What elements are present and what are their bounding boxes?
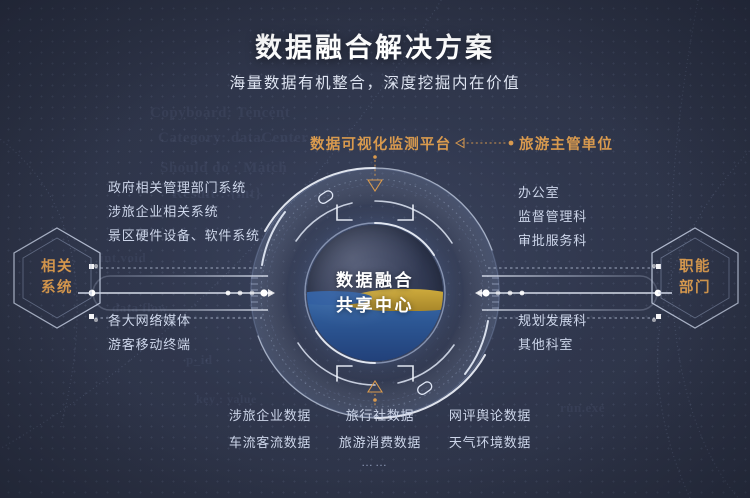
- bottom-data-connector: [368, 381, 382, 408]
- right-list-item: 审批服务科: [518, 229, 587, 253]
- watermark-text: Should do : Match: [160, 160, 287, 177]
- top-label-drop-lines: [368, 155, 382, 191]
- watermark-text: int void: [100, 250, 146, 266]
- left-list-item: 游客移动终端: [108, 333, 191, 357]
- hexagon-left-line2: 系统: [41, 278, 73, 299]
- hexagon-related-systems[interactable]: 相关 系统: [14, 228, 100, 328]
- bottom-data-item: 涉旅企业数据: [215, 405, 325, 424]
- bottom-data-item: 天气环境数据: [435, 432, 545, 451]
- left-list-item: 政府相关管理部门系统: [108, 176, 260, 200]
- right-column-top-list: 办公室监督管理科审批服务科: [518, 181, 587, 253]
- infographic-canvas: Copyboard: TencentCategory: dataCenterSh…: [0, 0, 750, 498]
- page-subtitle: 海量数据有机整合，深度挖掘内在价值: [0, 71, 750, 93]
- hexagon-right-line1: 职能: [679, 257, 711, 278]
- core-label-line2: 共享中心: [336, 293, 414, 318]
- label-visualization-platform[interactable]: 数据可视化监测平台: [310, 133, 451, 154]
- label-tourism-authority[interactable]: 旅游主管单位: [519, 133, 613, 154]
- bottom-data-item: 网评舆论数据: [435, 405, 545, 424]
- bottom-data-item: 车流客流数据: [215, 432, 325, 451]
- left-list-item: 涉旅企业相关系统: [108, 200, 260, 224]
- hexagon-right-line2: 部门: [679, 278, 711, 299]
- bottom-ellipsis: ……: [0, 455, 750, 469]
- hexagon-functional-departments[interactable]: 职能 部门: [652, 228, 738, 328]
- watermark-text: run.exe: [560, 400, 605, 416]
- right-list-item: 规划发展科: [518, 309, 587, 333]
- hexagon-left-line1: 相关: [41, 257, 73, 278]
- right-column-bottom-list: 规划发展科其他科室: [518, 309, 587, 357]
- bottom-data-source-grid: 涉旅企业数据旅行社数据网评舆论数据车流客流数据旅游消费数据天气环境数据: [215, 405, 545, 451]
- right-list-item: 办公室: [518, 181, 587, 205]
- watermark-text: Copyboard: Tencent: [150, 105, 290, 122]
- left-list-item: 景区硬件设备、软件系统: [108, 224, 260, 248]
- core-sphere-label: 数据融合 共享中心: [307, 225, 443, 361]
- bottom-data-item: 旅行社数据: [325, 405, 435, 424]
- left-column-top-list: 政府相关管理部门系统涉旅企业相关系统景区硬件设备、软件系统: [108, 176, 260, 248]
- top-label-arrow-connector: [456, 139, 513, 148]
- bottom-data-item: 旅游消费数据: [325, 432, 435, 451]
- left-column-bottom-list: 各大网络媒体游客移动终端: [108, 309, 191, 357]
- watermark-text: Category: dataCenter: [158, 130, 308, 147]
- right-list-item: 监督管理科: [518, 205, 587, 229]
- left-list-item: 各大网络媒体: [108, 309, 191, 333]
- core-label-line1: 数据融合: [336, 268, 414, 293]
- page-title: 数据融合解决方案: [0, 26, 750, 65]
- right-list-item: 其他科室: [518, 333, 587, 357]
